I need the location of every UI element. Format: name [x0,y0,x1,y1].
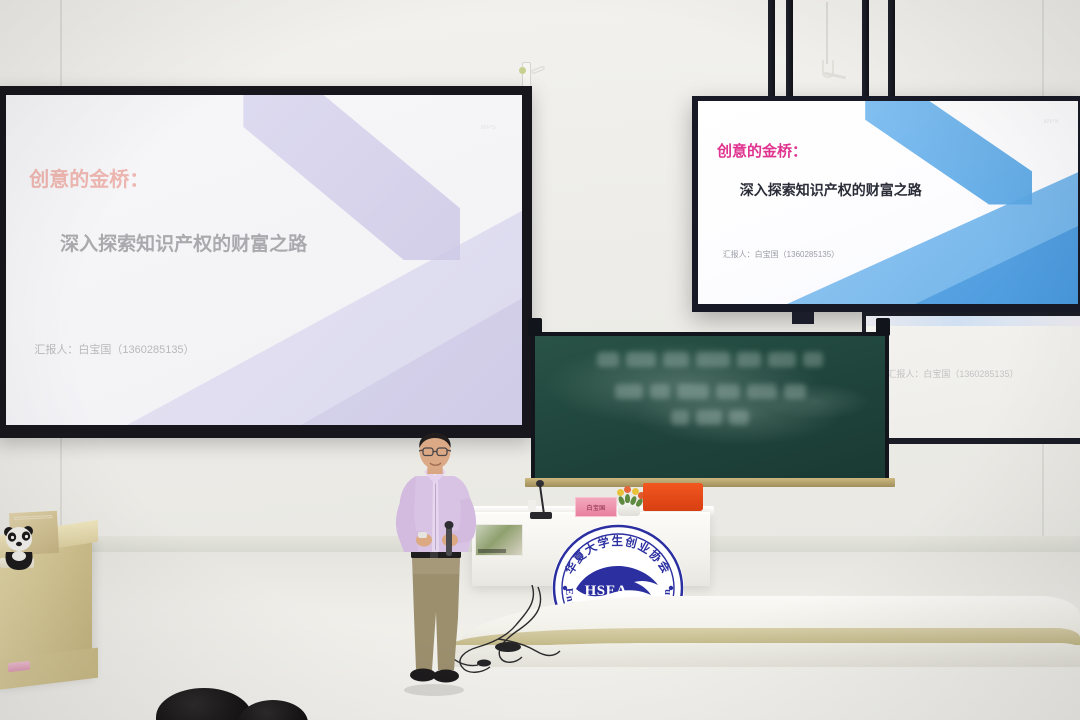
green-chalkboard [531,332,889,482]
monitor-mount-foot [792,312,814,324]
projection-screen-secondary: 汇报人：白宝国（1360285135） [862,312,1080,444]
presenter [382,432,494,700]
chalkboard-bracket [528,318,542,336]
ceiling-mount-bar [862,0,869,104]
lecture-hall-scene: WPS 创意的金桥： 深入探索知识产权的财富之路 汇报人：白宝国（1360285… [0,0,1080,720]
ceiling-hook [826,2,828,64]
slide-subtitle: 深入探索知识产权的财富之路 [740,180,922,200]
microphone-base [530,512,552,519]
slide-subtitle: 深入探索知识产权的财富之路 [60,229,307,256]
flower-arrangement [612,486,646,516]
slide-footer: 汇报人：白宝国（1360285135） [887,367,1018,380]
slide-watermark: WPS [1044,119,1059,125]
slide-footer: 汇报人：白宝国（1360285135） [34,341,194,357]
podium-nameplate: 白宝国 [575,497,617,517]
wall-monitor-right: WPS 创意的金桥： 深入探索知识产权的财富之路 汇报人：白宝国（1360285… [692,96,1080,312]
slide-watermark: WPS [481,125,496,131]
slide-title: 创意的金桥： [717,140,807,161]
panda-plush-toy [0,522,40,572]
slide-top-strip [866,316,1080,326]
ceiling-mount-bar [888,0,895,104]
slide-monitor: WPS 创意的金桥： 深入探索知识产权的财富之路 汇报人：白宝国（1360285… [698,101,1078,304]
chalkboard-surface [535,336,885,478]
chalkboard-bracket [876,318,890,336]
slide-main: WPS 创意的金桥： 深入探索知识产权的财富之路 汇报人：白宝国（1360285… [6,95,522,425]
slide-title: 创意的金桥： [29,163,149,192]
ceiling-mount-bar [768,0,775,104]
cup [528,500,536,511]
podium-nameplate-label: 白宝国 [587,503,606,512]
chalk-ledge [525,478,895,487]
ceiling-mount-bar [786,0,793,104]
slide-footer: 汇报人：白宝国（1360285135） [723,249,840,260]
slide-secondary: 汇报人：白宝国（1360285135） [866,316,1080,438]
projection-screen-main: WPS 创意的金桥： 深入探索知识产权的财富之路 汇报人：白宝国（1360285… [0,86,532,438]
banner-roll [643,483,703,511]
